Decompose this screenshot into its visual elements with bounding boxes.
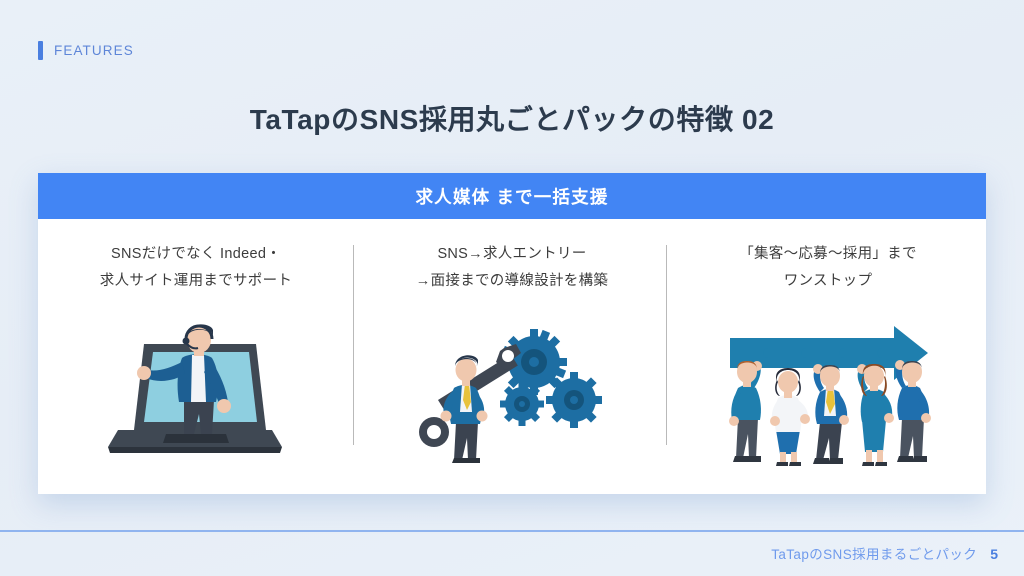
card-header-band: 求人媒体 まで一括支援 [38, 173, 986, 219]
footer-brand-text: TaTapのSNS採用まるごとパック [771, 543, 977, 563]
feature-illustration-1 [96, 301, 296, 494]
feature-caption-1-line2: 求人サイト運用までサポート [100, 268, 292, 295]
feature-caption-3-line1: 「集客〜応募〜採用」まで [739, 241, 917, 268]
card-header-text: 求人媒体 まで一括支援 [415, 184, 608, 209]
feature-caption-1: SNSだけでなく Indeed・ 求人サイト運用までサポート [100, 241, 292, 295]
page-title: TaTapのSNS採用丸ごとパックの特徴 02 [0, 98, 1024, 138]
features-card: 求人媒体 まで一括支援 SNSだけでなく Indeed・ 求人サイト運用までサポ… [38, 173, 986, 494]
feature-columns: SNSだけでなく Indeed・ 求人サイト運用までサポート [38, 219, 986, 494]
footer: TaTapのSNS採用まるごとパック 5 [771, 543, 998, 563]
team-holding-puzzle-arrow-icon [716, 322, 941, 472]
feature-caption-2: SNS→求人エントリー →面接までの導線設計を構築 [416, 241, 608, 295]
feature-column-2: SNS→求人エントリー →面接までの導線設計を構築 [354, 219, 670, 494]
eyebrow-label: FEATURES [38, 41, 134, 60]
feature-caption-1-line1: SNSだけでなく Indeed・ [100, 241, 292, 268]
feature-illustration-3 [716, 301, 941, 494]
feature-illustration-2 [412, 301, 612, 494]
slide: FEATURES TaTapのSNS採用丸ごとパックの特徴 02 求人媒体 まで… [0, 0, 1024, 576]
footer-page-number: 5 [990, 546, 998, 562]
feature-caption-3-line2: ワンストップ [739, 268, 917, 295]
eyebrow-text: FEATURES [54, 43, 134, 58]
man-presenting-from-laptop-icon [96, 322, 296, 472]
footer-divider [0, 530, 1024, 532]
feature-caption-3: 「集客〜応募〜採用」まで ワンストップ [739, 241, 917, 295]
man-with-wrench-and-gears-icon [412, 322, 612, 472]
feature-caption-2-line1: SNS→求人エントリー [416, 241, 608, 268]
eyebrow-accent-bar [38, 41, 43, 60]
feature-column-3: 「集客〜応募〜採用」まで ワンストップ [670, 219, 986, 494]
feature-column-1: SNSだけでなく Indeed・ 求人サイト運用までサポート [38, 219, 354, 494]
feature-caption-2-line2: →面接までの導線設計を構築 [416, 268, 608, 295]
